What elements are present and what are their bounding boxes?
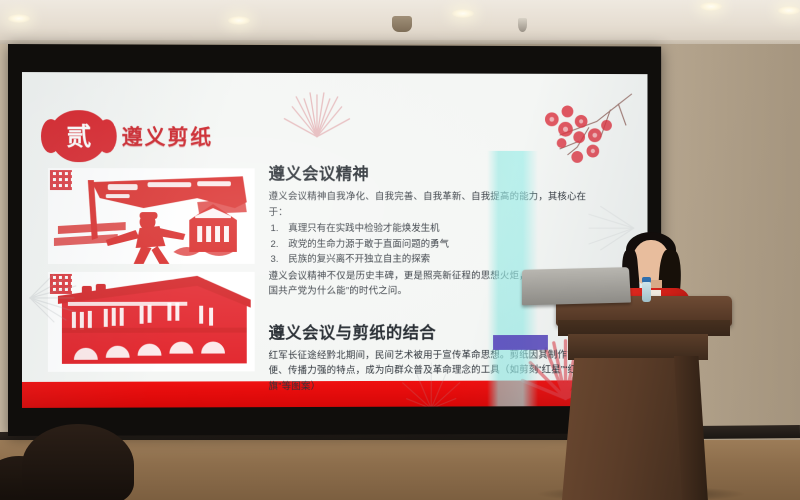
downlight-icon <box>8 14 30 23</box>
lecture-hall-scene: 贰 遵义剪纸 <box>0 0 800 500</box>
papercut-corner-ornament <box>50 170 72 190</box>
list-item-number: 2. <box>271 237 282 252</box>
slide-badge: 贰 遵义剪纸 <box>50 110 213 162</box>
section-intro: 红军长征途经黔北期间，民间艺术被用于宣传革命思想。剪纸因其制作简便、传播力强的特… <box>269 347 593 394</box>
slide-badge-title: 遵义剪纸 <box>122 121 213 151</box>
list-item: 2. 政党的生命力源于敢于直面问题的勇气 <box>269 237 593 252</box>
sprinkler-icon <box>518 18 527 32</box>
downlight-icon <box>778 6 800 15</box>
slide-section-2: 遵义会议与剪纸的结合 红军长征途经黔北期间，民间艺术被用于宣传革命思想。剪纸因其… <box>269 319 593 395</box>
list-item-text: 真理只有在实践中检验才能焕发生机 <box>288 221 439 236</box>
downlight-icon <box>452 9 474 18</box>
list-item-number: 3. <box>271 252 282 267</box>
projected-slide: 贰 遵义剪纸 <box>22 72 647 408</box>
firework-icon <box>278 79 355 141</box>
list-item-number: 1. <box>271 221 282 236</box>
seal-number: 贰 <box>66 124 91 149</box>
downlight-icon <box>700 2 722 11</box>
firework-icon <box>26 268 86 326</box>
projector-purple-artifact <box>493 335 548 350</box>
section-list: 1. 真理只有在实践中检验才能焕发生机 2. 政党的生命力源于敢于直面问题的勇气… <box>269 221 593 267</box>
section-intro: 遵义会议精神自我净化、自我完善、自我革新、自我提高的能力，其核心在于： <box>269 189 593 220</box>
laptop-icon[interactable] <box>522 267 631 305</box>
downlight-icon <box>228 16 250 25</box>
water-bottle-icon[interactable] <box>642 282 651 302</box>
wooden-podium <box>556 296 732 500</box>
section-heading: 遵义会议精神 <box>269 160 593 184</box>
papercut-flag-soldier <box>48 168 255 264</box>
list-item: 1. 真理只有在实践中检验才能焕发生机 <box>269 221 593 236</box>
ceiling-speaker-icon <box>392 16 412 32</box>
papercut-flag-svg <box>48 168 255 264</box>
list-item-text: 政党的生命力源于敢于直面问题的勇气 <box>288 237 449 252</box>
list-item-text: 民族的复兴离不开独立自主的探索 <box>288 252 430 267</box>
list-item: 3. 民族的复兴离不开独立自主的探索 <box>269 252 593 268</box>
audience-head <box>22 424 134 500</box>
seal-icon: 贰 <box>50 110 108 162</box>
